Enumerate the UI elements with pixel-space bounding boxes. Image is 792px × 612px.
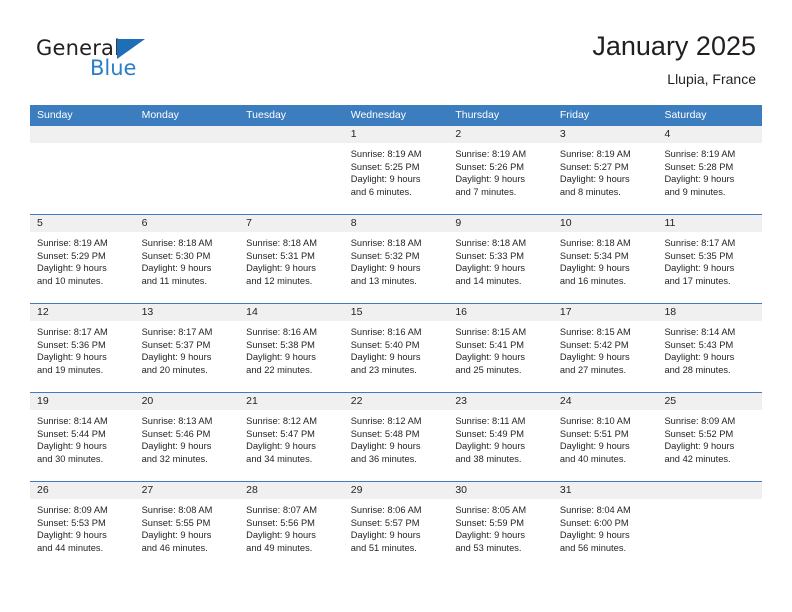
day-number: 27 bbox=[135, 482, 240, 499]
weekday-header-wednesday: Wednesday bbox=[344, 105, 449, 126]
daylight-text: Daylight: 9 hours bbox=[142, 351, 234, 364]
location-subtitle: Llupia, France bbox=[592, 71, 756, 87]
daylight-text: Daylight: 9 hours bbox=[351, 529, 443, 542]
daylight-text-cont: and 44 minutes. bbox=[37, 542, 129, 555]
daylight-text-cont: and 6 minutes. bbox=[351, 186, 443, 199]
daylight-text: Daylight: 9 hours bbox=[351, 440, 443, 453]
sunset-text: Sunset: 5:43 PM bbox=[664, 339, 756, 352]
daylight-text: Daylight: 9 hours bbox=[142, 529, 234, 542]
day-number: 1 bbox=[344, 126, 449, 143]
day-details: Sunrise: 8:18 AMSunset: 5:31 PMDaylight:… bbox=[239, 232, 344, 287]
day-details: Sunrise: 8:14 AMSunset: 5:44 PMDaylight:… bbox=[30, 410, 135, 465]
daylight-text: Daylight: 9 hours bbox=[664, 351, 756, 364]
sunset-text: Sunset: 5:41 PM bbox=[455, 339, 547, 352]
calendar-day-cell[interactable]: 6Sunrise: 8:18 AMSunset: 5:30 PMDaylight… bbox=[135, 215, 240, 303]
day-details: Sunrise: 8:19 AMSunset: 5:28 PMDaylight:… bbox=[657, 143, 762, 198]
calendar-day-cell[interactable]: 23Sunrise: 8:11 AMSunset: 5:49 PMDayligh… bbox=[448, 393, 553, 481]
day-number bbox=[135, 126, 240, 143]
day-details bbox=[239, 143, 344, 148]
daylight-text-cont: and 25 minutes. bbox=[455, 364, 547, 377]
daylight-text-cont: and 14 minutes. bbox=[455, 275, 547, 288]
day-number: 23 bbox=[448, 393, 553, 410]
day-details: Sunrise: 8:17 AMSunset: 5:36 PMDaylight:… bbox=[30, 321, 135, 376]
day-number: 2 bbox=[448, 126, 553, 143]
sunrise-text: Sunrise: 8:15 AM bbox=[455, 326, 547, 339]
sunset-text: Sunset: 5:53 PM bbox=[37, 517, 129, 530]
calendar-week-row: 1Sunrise: 8:19 AMSunset: 5:25 PMDaylight… bbox=[30, 126, 762, 215]
sunset-text: Sunset: 5:29 PM bbox=[37, 250, 129, 263]
day-details: Sunrise: 8:07 AMSunset: 5:56 PMDaylight:… bbox=[239, 499, 344, 554]
sunrise-text: Sunrise: 8:14 AM bbox=[37, 415, 129, 428]
sunrise-text: Sunrise: 8:17 AM bbox=[664, 237, 756, 250]
day-details: Sunrise: 8:16 AMSunset: 5:40 PMDaylight:… bbox=[344, 321, 449, 376]
calendar-day-cell-empty bbox=[30, 126, 135, 214]
sunrise-text: Sunrise: 8:10 AM bbox=[560, 415, 652, 428]
sunset-text: Sunset: 5:46 PM bbox=[142, 428, 234, 441]
page-header: General Blue January 2025 Llupia, France bbox=[0, 0, 792, 100]
sunrise-text: Sunrise: 8:12 AM bbox=[246, 415, 338, 428]
daylight-text-cont: and 49 minutes. bbox=[246, 542, 338, 555]
daylight-text: Daylight: 9 hours bbox=[560, 529, 652, 542]
weekday-header-saturday: Saturday bbox=[657, 105, 762, 126]
calendar-day-cell[interactable]: 18Sunrise: 8:14 AMSunset: 5:43 PMDayligh… bbox=[657, 304, 762, 392]
daylight-text: Daylight: 9 hours bbox=[455, 173, 547, 186]
day-details: Sunrise: 8:19 AMSunset: 5:26 PMDaylight:… bbox=[448, 143, 553, 198]
sunset-text: Sunset: 5:55 PM bbox=[142, 517, 234, 530]
day-number: 17 bbox=[553, 304, 658, 321]
calendar-week-row: 19Sunrise: 8:14 AMSunset: 5:44 PMDayligh… bbox=[30, 393, 762, 482]
sunrise-text: Sunrise: 8:14 AM bbox=[664, 326, 756, 339]
calendar-day-cell[interactable]: 9Sunrise: 8:18 AMSunset: 5:33 PMDaylight… bbox=[448, 215, 553, 303]
day-number: 29 bbox=[344, 482, 449, 499]
daylight-text: Daylight: 9 hours bbox=[664, 173, 756, 186]
calendar-week-row: 12Sunrise: 8:17 AMSunset: 5:36 PMDayligh… bbox=[30, 304, 762, 393]
daylight-text-cont: and 42 minutes. bbox=[664, 453, 756, 466]
day-number: 13 bbox=[135, 304, 240, 321]
day-number: 31 bbox=[553, 482, 658, 499]
calendar-week-row: 26Sunrise: 8:09 AMSunset: 5:53 PMDayligh… bbox=[30, 482, 762, 571]
daylight-text: Daylight: 9 hours bbox=[246, 262, 338, 275]
day-details: Sunrise: 8:19 AMSunset: 5:27 PMDaylight:… bbox=[553, 143, 658, 198]
calendar-day-cell[interactable]: 7Sunrise: 8:18 AMSunset: 5:31 PMDaylight… bbox=[239, 215, 344, 303]
daylight-text: Daylight: 9 hours bbox=[560, 262, 652, 275]
daylight-text-cont: and 11 minutes. bbox=[142, 275, 234, 288]
calendar-day-cell[interactable]: 17Sunrise: 8:15 AMSunset: 5:42 PMDayligh… bbox=[553, 304, 658, 392]
sunrise-text: Sunrise: 8:09 AM bbox=[664, 415, 756, 428]
calendar-day-cell[interactable]: 31Sunrise: 8:04 AMSunset: 6:00 PMDayligh… bbox=[553, 482, 658, 571]
sunrise-text: Sunrise: 8:15 AM bbox=[560, 326, 652, 339]
daylight-text: Daylight: 9 hours bbox=[37, 440, 129, 453]
day-details: Sunrise: 8:15 AMSunset: 5:42 PMDaylight:… bbox=[553, 321, 658, 376]
sunrise-text: Sunrise: 8:19 AM bbox=[455, 148, 547, 161]
day-details: Sunrise: 8:04 AMSunset: 6:00 PMDaylight:… bbox=[553, 499, 658, 554]
weekday-header-monday: Monday bbox=[135, 105, 240, 126]
weekday-header-friday: Friday bbox=[553, 105, 658, 126]
daylight-text: Daylight: 9 hours bbox=[455, 262, 547, 275]
daylight-text-cont: and 40 minutes. bbox=[560, 453, 652, 466]
daylight-text-cont: and 8 minutes. bbox=[560, 186, 652, 199]
daylight-text-cont: and 27 minutes. bbox=[560, 364, 652, 377]
calendar-page: General Blue January 2025 Llupia, France… bbox=[0, 0, 792, 612]
calendar-day-cell[interactable]: 26Sunrise: 8:09 AMSunset: 5:53 PMDayligh… bbox=[30, 482, 135, 571]
day-details: Sunrise: 8:17 AMSunset: 5:35 PMDaylight:… bbox=[657, 232, 762, 287]
daylight-text: Daylight: 9 hours bbox=[664, 440, 756, 453]
day-number bbox=[239, 126, 344, 143]
calendar-day-cell[interactable]: 1Sunrise: 8:19 AMSunset: 5:25 PMDaylight… bbox=[344, 126, 449, 214]
day-number: 14 bbox=[239, 304, 344, 321]
daylight-text-cont: and 19 minutes. bbox=[37, 364, 129, 377]
daylight-text: Daylight: 9 hours bbox=[351, 262, 443, 275]
daylight-text-cont: and 32 minutes. bbox=[142, 453, 234, 466]
day-details: Sunrise: 8:18 AMSunset: 5:33 PMDaylight:… bbox=[448, 232, 553, 287]
day-number: 26 bbox=[30, 482, 135, 499]
sunrise-text: Sunrise: 8:12 AM bbox=[351, 415, 443, 428]
day-number: 25 bbox=[657, 393, 762, 410]
daylight-text: Daylight: 9 hours bbox=[142, 440, 234, 453]
daylight-text: Daylight: 9 hours bbox=[455, 529, 547, 542]
sunrise-text: Sunrise: 8:07 AM bbox=[246, 504, 338, 517]
sunrise-text: Sunrise: 8:05 AM bbox=[455, 504, 547, 517]
day-number: 4 bbox=[657, 126, 762, 143]
day-number: 16 bbox=[448, 304, 553, 321]
day-details: Sunrise: 8:13 AMSunset: 5:46 PMDaylight:… bbox=[135, 410, 240, 465]
day-number: 6 bbox=[135, 215, 240, 232]
sunrise-text: Sunrise: 8:04 AM bbox=[560, 504, 652, 517]
day-number: 28 bbox=[239, 482, 344, 499]
sunset-text: Sunset: 5:47 PM bbox=[246, 428, 338, 441]
day-number: 10 bbox=[553, 215, 658, 232]
sunrise-text: Sunrise: 8:19 AM bbox=[351, 148, 443, 161]
calendar-day-cell[interactable]: 10Sunrise: 8:18 AMSunset: 5:34 PMDayligh… bbox=[553, 215, 658, 303]
calendar-day-cell[interactable]: 14Sunrise: 8:16 AMSunset: 5:38 PMDayligh… bbox=[239, 304, 344, 392]
weekday-header-sunday: Sunday bbox=[30, 105, 135, 126]
day-details: Sunrise: 8:18 AMSunset: 5:34 PMDaylight:… bbox=[553, 232, 658, 287]
sunset-text: Sunset: 5:42 PM bbox=[560, 339, 652, 352]
sunrise-text: Sunrise: 8:16 AM bbox=[351, 326, 443, 339]
sunset-text: Sunset: 5:26 PM bbox=[455, 161, 547, 174]
daylight-text-cont: and 34 minutes. bbox=[246, 453, 338, 466]
calendar-day-cell[interactable]: 8Sunrise: 8:18 AMSunset: 5:32 PMDaylight… bbox=[344, 215, 449, 303]
calendar-day-cell[interactable]: 20Sunrise: 8:13 AMSunset: 5:46 PMDayligh… bbox=[135, 393, 240, 481]
calendar-day-cell-empty bbox=[657, 482, 762, 571]
sunrise-text: Sunrise: 8:11 AM bbox=[455, 415, 547, 428]
daylight-text: Daylight: 9 hours bbox=[37, 351, 129, 364]
daylight-text: Daylight: 9 hours bbox=[37, 262, 129, 275]
daylight-text: Daylight: 9 hours bbox=[246, 529, 338, 542]
day-number: 19 bbox=[30, 393, 135, 410]
sunrise-text: Sunrise: 8:18 AM bbox=[455, 237, 547, 250]
day-details bbox=[30, 143, 135, 148]
sunset-text: Sunset: 5:52 PM bbox=[664, 428, 756, 441]
calendar-day-cell[interactable]: 30Sunrise: 8:05 AMSunset: 5:59 PMDayligh… bbox=[448, 482, 553, 571]
calendar-weeks: 1Sunrise: 8:19 AMSunset: 5:25 PMDaylight… bbox=[30, 126, 762, 571]
calendar-day-cell-empty bbox=[239, 126, 344, 214]
daylight-text-cont: and 30 minutes. bbox=[37, 453, 129, 466]
calendar-week-row: 5Sunrise: 8:19 AMSunset: 5:29 PMDaylight… bbox=[30, 215, 762, 304]
day-number: 12 bbox=[30, 304, 135, 321]
daylight-text: Daylight: 9 hours bbox=[455, 351, 547, 364]
calendar-day-cell[interactable]: 22Sunrise: 8:12 AMSunset: 5:48 PMDayligh… bbox=[344, 393, 449, 481]
day-details: Sunrise: 8:10 AMSunset: 5:51 PMDaylight:… bbox=[553, 410, 658, 465]
calendar-day-cell[interactable]: 24Sunrise: 8:10 AMSunset: 5:51 PMDayligh… bbox=[553, 393, 658, 481]
sunrise-text: Sunrise: 8:17 AM bbox=[142, 326, 234, 339]
sunset-text: Sunset: 5:48 PM bbox=[351, 428, 443, 441]
day-details bbox=[657, 499, 762, 504]
day-number: 3 bbox=[553, 126, 658, 143]
daylight-text: Daylight: 9 hours bbox=[560, 351, 652, 364]
day-details: Sunrise: 8:12 AMSunset: 5:47 PMDaylight:… bbox=[239, 410, 344, 465]
day-details: Sunrise: 8:19 AMSunset: 5:25 PMDaylight:… bbox=[344, 143, 449, 198]
sunset-text: Sunset: 6:00 PM bbox=[560, 517, 652, 530]
sunrise-text: Sunrise: 8:19 AM bbox=[664, 148, 756, 161]
daylight-text-cont: and 51 minutes. bbox=[351, 542, 443, 555]
daylight-text: Daylight: 9 hours bbox=[246, 351, 338, 364]
sunrise-text: Sunrise: 8:18 AM bbox=[246, 237, 338, 250]
sunset-text: Sunset: 5:40 PM bbox=[351, 339, 443, 352]
calendar-day-cell[interactable]: 28Sunrise: 8:07 AMSunset: 5:56 PMDayligh… bbox=[239, 482, 344, 571]
day-number: 9 bbox=[448, 215, 553, 232]
sunrise-text: Sunrise: 8:19 AM bbox=[37, 237, 129, 250]
sunset-text: Sunset: 5:28 PM bbox=[664, 161, 756, 174]
sunrise-text: Sunrise: 8:19 AM bbox=[560, 148, 652, 161]
weekday-header-row: SundayMondayTuesdayWednesdayThursdayFrid… bbox=[30, 105, 762, 126]
daylight-text-cont: and 7 minutes. bbox=[455, 186, 547, 199]
day-details: Sunrise: 8:15 AMSunset: 5:41 PMDaylight:… bbox=[448, 321, 553, 376]
day-number: 11 bbox=[657, 215, 762, 232]
daylight-text: Daylight: 9 hours bbox=[351, 351, 443, 364]
title-block: January 2025 Llupia, France bbox=[592, 30, 756, 87]
day-details: Sunrise: 8:18 AMSunset: 5:32 PMDaylight:… bbox=[344, 232, 449, 287]
sunset-text: Sunset: 5:31 PM bbox=[246, 250, 338, 263]
day-details: Sunrise: 8:16 AMSunset: 5:38 PMDaylight:… bbox=[239, 321, 344, 376]
sunset-text: Sunset: 5:32 PM bbox=[351, 250, 443, 263]
sunrise-text: Sunrise: 8:17 AM bbox=[37, 326, 129, 339]
sunset-text: Sunset: 5:49 PM bbox=[455, 428, 547, 441]
sunset-text: Sunset: 5:27 PM bbox=[560, 161, 652, 174]
daylight-text-cont: and 10 minutes. bbox=[37, 275, 129, 288]
sunset-text: Sunset: 5:35 PM bbox=[664, 250, 756, 263]
daylight-text: Daylight: 9 hours bbox=[560, 173, 652, 186]
day-details: Sunrise: 8:09 AMSunset: 5:53 PMDaylight:… bbox=[30, 499, 135, 554]
day-details: Sunrise: 8:06 AMSunset: 5:57 PMDaylight:… bbox=[344, 499, 449, 554]
daylight-text-cont: and 23 minutes. bbox=[351, 364, 443, 377]
sunset-text: Sunset: 5:30 PM bbox=[142, 250, 234, 263]
general-blue-logo[interactable]: General Blue bbox=[36, 36, 236, 88]
calendar-day-cell[interactable]: 16Sunrise: 8:15 AMSunset: 5:41 PMDayligh… bbox=[448, 304, 553, 392]
sunrise-text: Sunrise: 8:09 AM bbox=[37, 504, 129, 517]
calendar-day-cell[interactable]: 2Sunrise: 8:19 AMSunset: 5:26 PMDaylight… bbox=[448, 126, 553, 214]
calendar-day-cell[interactable]: 11Sunrise: 8:17 AMSunset: 5:35 PMDayligh… bbox=[657, 215, 762, 303]
logo-text-blue: Blue bbox=[90, 56, 136, 80]
sunrise-text: Sunrise: 8:13 AM bbox=[142, 415, 234, 428]
daylight-text-cont: and 38 minutes. bbox=[455, 453, 547, 466]
calendar-day-cell[interactable]: 5Sunrise: 8:19 AMSunset: 5:29 PMDaylight… bbox=[30, 215, 135, 303]
daylight-text-cont: and 53 minutes. bbox=[455, 542, 547, 555]
day-details: Sunrise: 8:12 AMSunset: 5:48 PMDaylight:… bbox=[344, 410, 449, 465]
sunrise-text: Sunrise: 8:06 AM bbox=[351, 504, 443, 517]
daylight-text-cont: and 46 minutes. bbox=[142, 542, 234, 555]
daylight-text: Daylight: 9 hours bbox=[246, 440, 338, 453]
sunrise-text: Sunrise: 8:18 AM bbox=[560, 237, 652, 250]
sunrise-text: Sunrise: 8:18 AM bbox=[142, 237, 234, 250]
day-number bbox=[30, 126, 135, 143]
day-number: 18 bbox=[657, 304, 762, 321]
sunrise-text: Sunrise: 8:08 AM bbox=[142, 504, 234, 517]
sunset-text: Sunset: 5:36 PM bbox=[37, 339, 129, 352]
daylight-text: Daylight: 9 hours bbox=[37, 529, 129, 542]
calendar-day-cell[interactable]: 3Sunrise: 8:19 AMSunset: 5:27 PMDaylight… bbox=[553, 126, 658, 214]
calendar-day-cell[interactable]: 25Sunrise: 8:09 AMSunset: 5:52 PMDayligh… bbox=[657, 393, 762, 481]
day-number: 15 bbox=[344, 304, 449, 321]
daylight-text: Daylight: 9 hours bbox=[560, 440, 652, 453]
day-number: 20 bbox=[135, 393, 240, 410]
sunset-text: Sunset: 5:44 PM bbox=[37, 428, 129, 441]
daylight-text-cont: and 13 minutes. bbox=[351, 275, 443, 288]
day-details: Sunrise: 8:11 AMSunset: 5:49 PMDaylight:… bbox=[448, 410, 553, 465]
daylight-text-cont: and 28 minutes. bbox=[664, 364, 756, 377]
day-number: 7 bbox=[239, 215, 344, 232]
calendar-day-cell[interactable]: 29Sunrise: 8:06 AMSunset: 5:57 PMDayligh… bbox=[344, 482, 449, 571]
daylight-text: Daylight: 9 hours bbox=[455, 440, 547, 453]
calendar-day-cell[interactable]: 27Sunrise: 8:08 AMSunset: 5:55 PMDayligh… bbox=[135, 482, 240, 571]
day-details: Sunrise: 8:05 AMSunset: 5:59 PMDaylight:… bbox=[448, 499, 553, 554]
weekday-header-thursday: Thursday bbox=[448, 105, 553, 126]
calendar-day-cell[interactable]: 21Sunrise: 8:12 AMSunset: 5:47 PMDayligh… bbox=[239, 393, 344, 481]
day-number bbox=[657, 482, 762, 499]
sunset-text: Sunset: 5:38 PM bbox=[246, 339, 338, 352]
calendar-day-cell[interactable]: 13Sunrise: 8:17 AMSunset: 5:37 PMDayligh… bbox=[135, 304, 240, 392]
daylight-text-cont: and 22 minutes. bbox=[246, 364, 338, 377]
day-details: Sunrise: 8:18 AMSunset: 5:30 PMDaylight:… bbox=[135, 232, 240, 287]
day-details: Sunrise: 8:19 AMSunset: 5:29 PMDaylight:… bbox=[30, 232, 135, 287]
daylight-text: Daylight: 9 hours bbox=[142, 262, 234, 275]
calendar-day-cell-empty bbox=[135, 126, 240, 214]
weekday-header-tuesday: Tuesday bbox=[239, 105, 344, 126]
daylight-text-cont: and 56 minutes. bbox=[560, 542, 652, 555]
day-number: 30 bbox=[448, 482, 553, 499]
sunset-text: Sunset: 5:51 PM bbox=[560, 428, 652, 441]
day-details bbox=[135, 143, 240, 148]
day-number: 8 bbox=[344, 215, 449, 232]
sunset-text: Sunset: 5:56 PM bbox=[246, 517, 338, 530]
day-details: Sunrise: 8:14 AMSunset: 5:43 PMDaylight:… bbox=[657, 321, 762, 376]
day-number: 22 bbox=[344, 393, 449, 410]
daylight-text-cont: and 36 minutes. bbox=[351, 453, 443, 466]
calendar-day-cell[interactable]: 4Sunrise: 8:19 AMSunset: 5:28 PMDaylight… bbox=[657, 126, 762, 214]
sunset-text: Sunset: 5:33 PM bbox=[455, 250, 547, 263]
page-title: January 2025 bbox=[592, 30, 756, 62]
day-details: Sunrise: 8:09 AMSunset: 5:52 PMDaylight:… bbox=[657, 410, 762, 465]
daylight-text-cont: and 17 minutes. bbox=[664, 275, 756, 288]
calendar-day-cell[interactable]: 15Sunrise: 8:16 AMSunset: 5:40 PMDayligh… bbox=[344, 304, 449, 392]
day-number: 24 bbox=[553, 393, 658, 410]
sunrise-text: Sunrise: 8:16 AM bbox=[246, 326, 338, 339]
sunset-text: Sunset: 5:37 PM bbox=[142, 339, 234, 352]
day-details: Sunrise: 8:17 AMSunset: 5:37 PMDaylight:… bbox=[135, 321, 240, 376]
sunrise-text: Sunrise: 8:18 AM bbox=[351, 237, 443, 250]
calendar-day-cell[interactable]: 12Sunrise: 8:17 AMSunset: 5:36 PMDayligh… bbox=[30, 304, 135, 392]
sunset-text: Sunset: 5:25 PM bbox=[351, 161, 443, 174]
calendar-day-cell[interactable]: 19Sunrise: 8:14 AMSunset: 5:44 PMDayligh… bbox=[30, 393, 135, 481]
day-number: 21 bbox=[239, 393, 344, 410]
day-details: Sunrise: 8:08 AMSunset: 5:55 PMDaylight:… bbox=[135, 499, 240, 554]
sunset-text: Sunset: 5:59 PM bbox=[455, 517, 547, 530]
daylight-text: Daylight: 9 hours bbox=[351, 173, 443, 186]
daylight-text-cont: and 20 minutes. bbox=[142, 364, 234, 377]
sunset-text: Sunset: 5:34 PM bbox=[560, 250, 652, 263]
daylight-text-cont: and 9 minutes. bbox=[664, 186, 756, 199]
day-number: 5 bbox=[30, 215, 135, 232]
calendar-table: SundayMondayTuesdayWednesdayThursdayFrid… bbox=[30, 105, 762, 571]
daylight-text-cont: and 16 minutes. bbox=[560, 275, 652, 288]
sunset-text: Sunset: 5:57 PM bbox=[351, 517, 443, 530]
daylight-text: Daylight: 9 hours bbox=[664, 262, 756, 275]
daylight-text-cont: and 12 minutes. bbox=[246, 275, 338, 288]
